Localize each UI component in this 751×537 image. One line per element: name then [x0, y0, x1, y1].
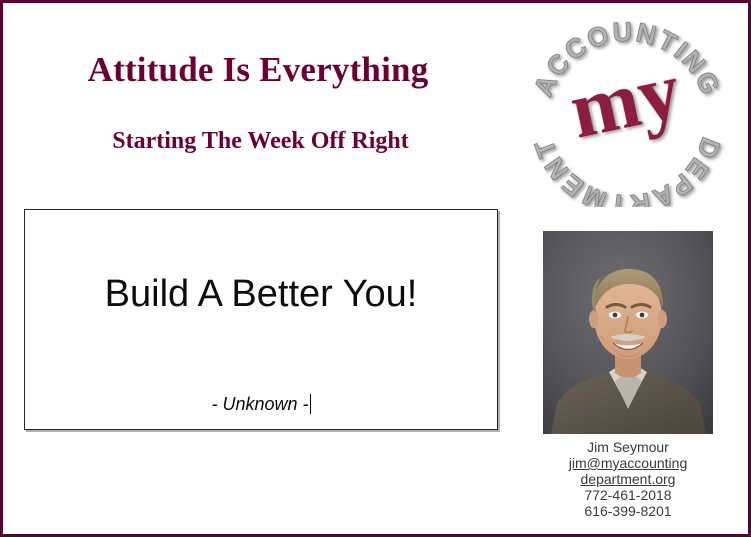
quote-attribution-text: - Unknown -: [211, 394, 308, 414]
page-title: Attitude Is Everything: [3, 50, 513, 90]
contact-email-link-line1[interactable]: jim@myaccounting: [533, 455, 723, 471]
contact-info: Jim Seymour jim@myaccounting department.…: [533, 439, 723, 519]
contact-name: Jim Seymour: [533, 439, 723, 455]
slide-canvas: Attitude Is Everything Starting The Week…: [0, 0, 751, 537]
quote-text-box[interactable]: Build A Better You! - Unknown -: [24, 209, 498, 430]
contact-email-link-line2[interactable]: department.org: [533, 471, 723, 487]
text-caret: [310, 394, 311, 414]
company-logo: ACCOUNTING DEPARTMENT my: [519, 17, 735, 207]
portrait-photo: [543, 231, 713, 434]
contact-phone-secondary[interactable]: 616-399-8201: [533, 503, 723, 519]
page-subtitle: Starting The Week Off Right: [3, 127, 518, 155]
quote-main-text[interactable]: Build A Better You!: [25, 272, 497, 316]
contact-phone-primary[interactable]: 772-461-2018: [533, 487, 723, 503]
quote-attribution-line[interactable]: - Unknown -: [25, 393, 497, 415]
